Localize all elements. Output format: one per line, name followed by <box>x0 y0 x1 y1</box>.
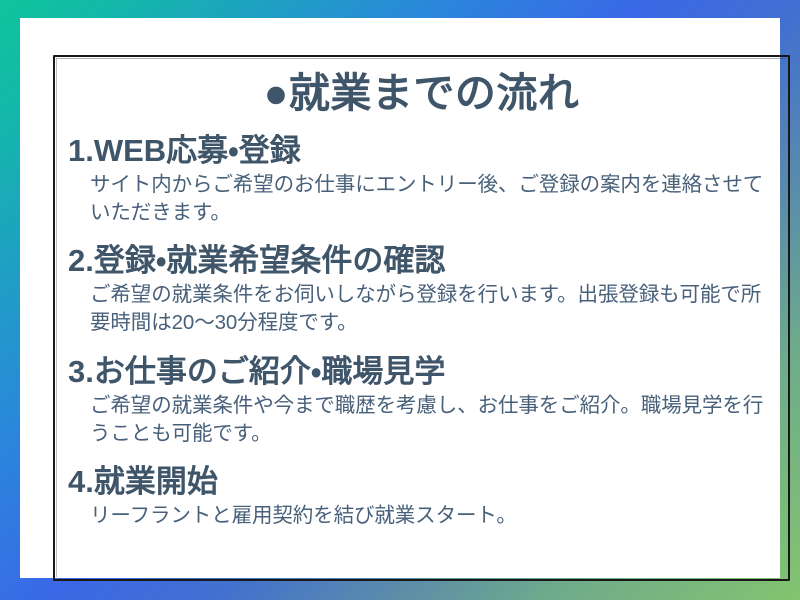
step-1-heading: 1.WEB応募・登録 <box>68 134 781 169</box>
content-card: ●就業までの流れ 1.WEB応募・登録 サイト内からご希望のお仕事にエントリー後… <box>20 18 780 578</box>
slide-content: ●就業までの流れ 1.WEB応募・登録 サイト内からご希望のお仕事にエントリー後… <box>56 58 787 578</box>
step-4-body: リーフラントと雇用契約を結び就業スタート。 <box>68 502 781 530</box>
slide-canvas: ●就業までの流れ 1.WEB応募・登録 サイト内からご希望のお仕事にエントリー後… <box>0 0 800 600</box>
page-title: ●就業までの流れ <box>56 73 787 114</box>
step-3-body: ご希望の就業条件や今まで職歴を考慮し、お仕事をご紹介。職場見学を行うことも可能で… <box>68 392 781 448</box>
step-item-2: 2.登録・就業希望条件の確認 ご希望の就業条件をお伺いしながら登録を行います。出… <box>56 244 787 336</box>
step-4-heading: 4.就業開始 <box>68 465 781 500</box>
step-3-heading: 3.お仕事のご紹介・職場見学 <box>68 355 781 390</box>
step-1-body: サイト内からご希望のお仕事にエントリー後、ご登録の案内を連絡させていただきます。 <box>68 171 781 227</box>
step-2-heading: 2.登録・就業希望条件の確認 <box>68 244 781 279</box>
step-2-body: ご希望の就業条件をお伺いしながら登録を行います。出張登録も可能で所要時間は20〜… <box>68 281 781 337</box>
step-item-4: 4.就業開始 リーフラントと雇用契約を結び就業スタート。 <box>56 465 787 530</box>
step-item-3: 3.お仕事のご紹介・職場見学 ご希望の就業条件や今まで職歴を考慮し、お仕事をご紹… <box>56 355 787 447</box>
step-item-1: 1.WEB応募・登録 サイト内からご希望のお仕事にエントリー後、ご登録の案内を連… <box>56 134 787 226</box>
